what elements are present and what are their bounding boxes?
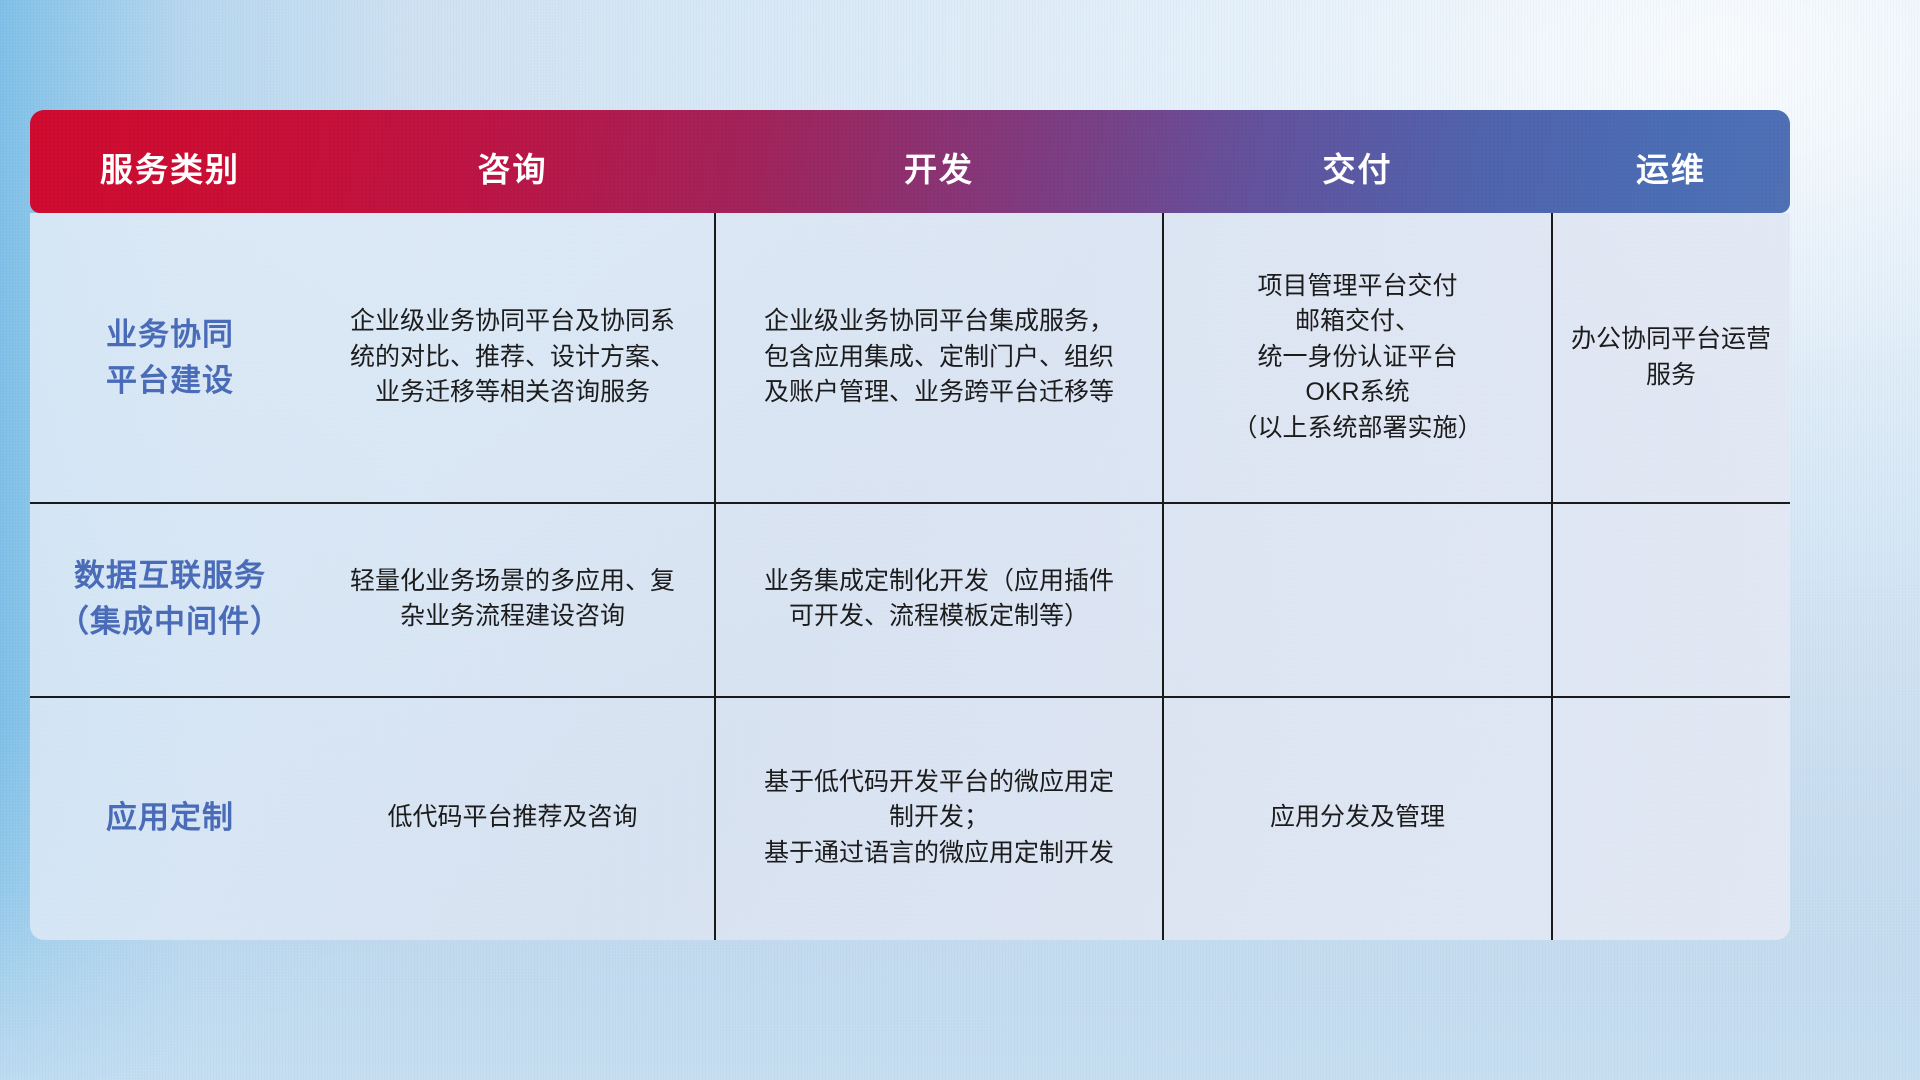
row-label-data-integration: 数据互联服务 （集成中间件） xyxy=(30,502,310,696)
cell-development: 企业级业务协同平台集成服务， 包含应用集成、定制门户、组织 及账户管理、业务跨平… xyxy=(715,213,1163,502)
column-header-consulting: 咨询 xyxy=(310,143,715,213)
cell-consulting: 企业级业务协同平台及协同系 统的对比、推荐、设计方案、 业务迁移等相关咨询服务 xyxy=(310,213,715,502)
table-row: 应用定制 低代码平台推荐及咨询 基于低代码开发平台的微应用定 制开发； 基于通过… xyxy=(30,696,1790,940)
cell-delivery: 项目管理平台交付 邮箱交付、 统一身份认证平台 OKR系统 （以上系统部署实施） xyxy=(1163,213,1552,502)
cell-consulting: 低代码平台推荐及咨询 xyxy=(310,696,715,940)
service-matrix-table: 服务类别 咨询 开发 交付 运维 业务协同 平台建设 企业级业务协同平台及协同系… xyxy=(30,110,1790,940)
column-header-operations: 运维 xyxy=(1552,143,1790,213)
column-header-delivery: 交付 xyxy=(1163,143,1552,213)
cell-development: 基于低代码开发平台的微应用定 制开发； 基于通过语言的微应用定制开发 xyxy=(715,696,1163,940)
table-row: 数据互联服务 （集成中间件） 轻量化业务场景的多应用、复 杂业务流程建设咨询 业… xyxy=(30,502,1790,696)
row-label-app-customization: 应用定制 xyxy=(30,696,310,940)
cell-operations xyxy=(1552,502,1790,696)
cell-delivery: 应用分发及管理 xyxy=(1163,696,1552,940)
row-separator xyxy=(30,696,1790,698)
cell-delivery xyxy=(1163,502,1552,696)
cell-development: 业务集成定制化开发（应用插件 可开发、流程模板定制等） xyxy=(715,502,1163,696)
row-label-business-collaboration: 业务协同 平台建设 xyxy=(30,213,310,502)
table-header-row: 服务类别 咨询 开发 交付 运维 xyxy=(30,110,1790,213)
column-divider-2 xyxy=(1162,213,1164,940)
column-divider-1 xyxy=(714,213,716,940)
column-header-category: 服务类别 xyxy=(30,143,310,213)
column-divider-3 xyxy=(1551,213,1553,940)
cell-consulting: 轻量化业务场景的多应用、复 杂业务流程建设咨询 xyxy=(310,502,715,696)
row-separator xyxy=(30,502,1790,504)
table-row: 业务协同 平台建设 企业级业务协同平台及协同系 统的对比、推荐、设计方案、 业务… xyxy=(30,213,1790,502)
cell-operations xyxy=(1552,696,1790,940)
column-header-development: 开发 xyxy=(715,143,1163,213)
table-body: 业务协同 平台建设 企业级业务协同平台及协同系 统的对比、推荐、设计方案、 业务… xyxy=(30,213,1790,940)
cell-operations: 办公协同平台运营服务 xyxy=(1552,213,1790,502)
